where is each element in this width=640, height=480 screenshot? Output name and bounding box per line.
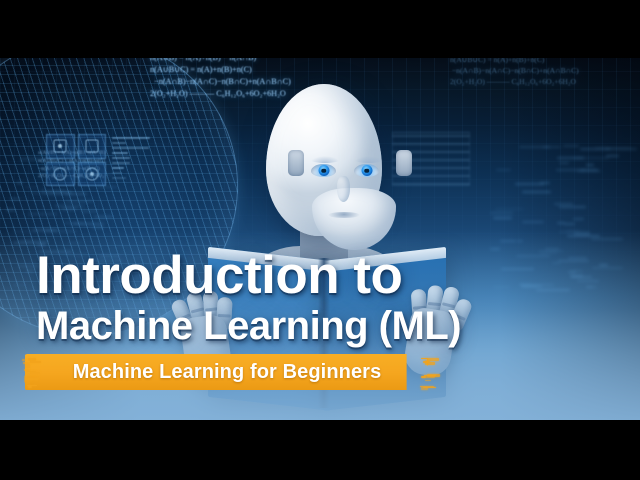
brush-bristle — [425, 380, 431, 381]
subtitle-text: Machine Learning for Beginners — [24, 354, 430, 390]
brush-bristle — [30, 361, 41, 363]
letterbox-top — [0, 0, 640, 58]
brush-bristle — [30, 372, 39, 374]
brush-bristle — [25, 378, 33, 380]
video-frame: n(A∪B) = n(A)+n(B) − n(A∩B) n(A∪B∪C) = n… — [0, 58, 640, 420]
subtitle-banner: Machine Learning for Beginners — [24, 354, 430, 390]
brush-bristle — [22, 359, 25, 360]
video-thumbnail: n(A∪B) = n(A)+n(B) − n(A∩B) n(A∪B∪C) = n… — [0, 0, 640, 480]
brush-bristle — [424, 375, 436, 376]
title-line-1: Introduction to — [36, 248, 402, 304]
brush-bristle — [425, 360, 430, 363]
brush-bristle — [28, 386, 32, 388]
brush-bristle — [25, 364, 30, 367]
letterbox-bottom — [0, 420, 640, 480]
title-block: Introduction to Machine Learning (ML) Ma… — [0, 58, 640, 420]
title-line-2: Machine Learning (ML) — [36, 304, 461, 348]
brush-bristle — [29, 375, 37, 376]
